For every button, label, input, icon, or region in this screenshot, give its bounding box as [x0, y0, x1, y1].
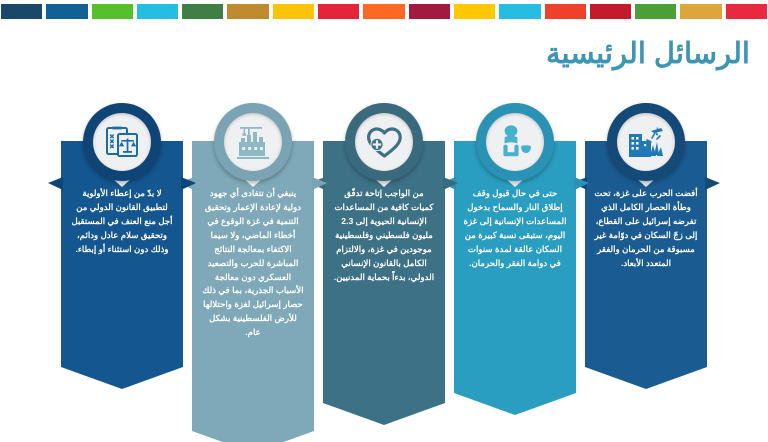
card-war-poverty-ribbon-tail: [585, 367, 707, 389]
heart-with-medical-cross-icon: [355, 113, 413, 171]
card-international-law-medallion: [83, 103, 161, 181]
sdg-color-chip: [273, 4, 314, 19]
sdg-color-chip: [590, 4, 631, 19]
card-humanitarian-law-medallion: [345, 103, 423, 181]
card-war-poverty-ribbon-fold-right: [705, 177, 720, 190]
sdg-color-chip: [680, 4, 721, 19]
message-cards-row: أفضت الحرب على غزة، تحت وطأة الحصار الكا…: [0, 103, 768, 442]
sdg-color-chip: [454, 4, 495, 19]
sdg-color-bar: [0, 4, 768, 19]
sdg-color-chip: [318, 4, 359, 19]
sdg-color-chip: [635, 4, 676, 19]
sdg-color-chip: [92, 4, 133, 19]
card-reconstruction-medallion: [214, 103, 292, 181]
card-international-law-ribbon-tail: [61, 367, 183, 389]
sdg-color-chip: [409, 4, 450, 19]
card-ceasefire-aid-medallion: [476, 103, 554, 181]
card-war-poverty-medallion: [607, 103, 685, 181]
card-ceasefire-aid-ribbon-fold-right: [574, 177, 589, 190]
card-reconstruction-ribbon: ينبغي أن تتفادى أي جهود دولية لإعادة الإ…: [192, 141, 314, 431]
card-reconstruction-text: ينبغي أن تتفادى أي جهود دولية لإعادة الإ…: [201, 187, 305, 340]
construction-crane-icon: [224, 113, 282, 171]
legal-scales-documents-icon: [93, 113, 151, 171]
card-humanitarian-law-ribbon-fold-right: [443, 177, 458, 190]
card-ceasefire-aid-ribbon-tail: [454, 393, 576, 415]
sdg-color-chip: [137, 4, 178, 19]
bombed-building-icon: [617, 113, 675, 171]
sdg-color-chip: [363, 4, 404, 19]
page-title: الرسائل الرئيسية: [546, 36, 750, 71]
card-reconstruction: ينبغي أن تتفادى أي جهود دولية لإعادة الإ…: [192, 103, 314, 431]
card-ceasefire-aid-text: حتى في حال قبول وقف إطلاق النار والسماح …: [463, 187, 567, 271]
card-international-law-text: لا بدّ من إعطاء الأولوية لتطبيق القانون …: [70, 187, 174, 257]
person-with-empty-bowl-icon: [486, 113, 544, 171]
card-war-poverty: أفضت الحرب على غزة، تحت وطأة الحصار الكا…: [585, 103, 707, 367]
card-humanitarian-law: من الواجب إتاحة تدفّق كميات كافية من الم…: [323, 103, 445, 403]
sdg-color-chip: [46, 4, 87, 19]
card-war-poverty-text: أفضت الحرب على غزة، تحت وطأة الحصار الكا…: [594, 187, 698, 271]
sdg-color-chip: [182, 4, 223, 19]
infographic-poster: الرسائل الرئيسية أفضت الح: [0, 0, 768, 442]
card-humanitarian-law-ribbon-tail: [323, 403, 445, 425]
card-international-law: لا بدّ من إعطاء الأولوية لتطبيق القانون …: [61, 103, 183, 367]
card-reconstruction-ribbon-fold-right: [312, 177, 327, 190]
sdg-color-chip: [545, 4, 586, 19]
sdg-color-chip: [227, 4, 268, 19]
card-humanitarian-law-text: من الواجب إتاحة تدفّق كميات كافية من الم…: [332, 187, 436, 284]
sdg-color-chip: [726, 4, 767, 19]
sdg-color-chip: [1, 4, 42, 19]
card-international-law-ribbon-fold-left: [48, 177, 63, 190]
sdg-color-chip: [499, 4, 540, 19]
card-international-law-ribbon-fold-right: [181, 177, 196, 190]
card-ceasefire-aid: حتى في حال قبول وقف إطلاق النار والسماح …: [454, 103, 576, 393]
card-reconstruction-ribbon-tail: [192, 431, 314, 442]
